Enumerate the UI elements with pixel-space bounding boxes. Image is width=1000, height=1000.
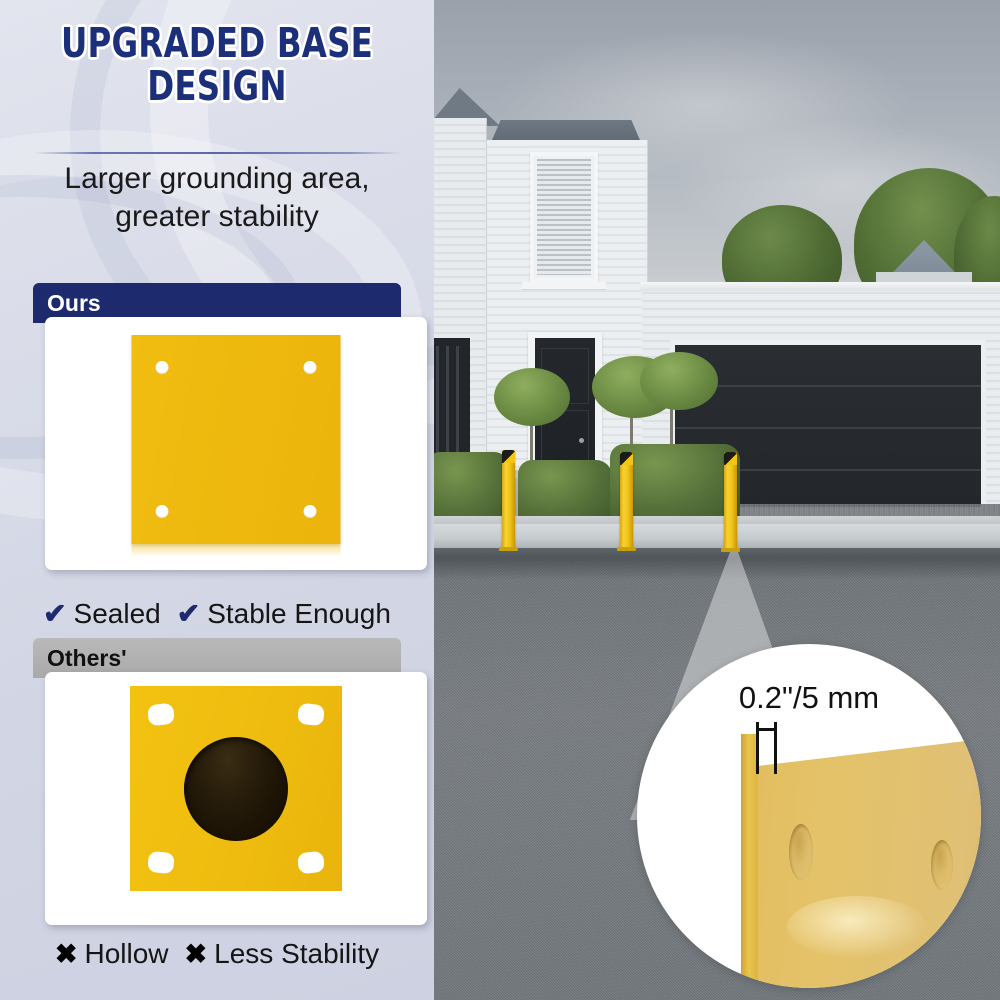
product-infographic: UPGRADED BASE DESIGN Larger grounding ar…	[0, 0, 1000, 1000]
bollard-base-plate	[617, 547, 636, 551]
bolt-hole-icon	[156, 505, 169, 518]
bolt-hole-icon	[931, 840, 953, 890]
base-plate-ours	[132, 335, 341, 544]
bolt-slot-icon	[147, 703, 175, 727]
bolt-hole-icon	[156, 361, 169, 374]
hedge	[434, 452, 510, 524]
headline-divider	[34, 152, 402, 154]
garage-door-seam	[675, 427, 981, 429]
bollard-base-plate	[499, 547, 518, 551]
card-photo-others	[45, 672, 427, 925]
bolt-hole-icon	[304, 361, 317, 374]
hollow-center-hole-icon	[184, 737, 288, 841]
headline-line-2: DESIGN	[26, 65, 408, 108]
check-icon: ✔	[43, 597, 66, 630]
plate-ours-wrapper	[45, 317, 427, 570]
bollard-product	[724, 452, 737, 549]
garage-door-seam	[675, 385, 981, 387]
bollard-cap-icon	[620, 452, 633, 465]
bullet-label-ours-1: Sealed	[74, 598, 161, 629]
door-knob-icon	[579, 438, 584, 443]
product-scene-photo: 0.2"/5 mm	[434, 0, 1000, 1000]
base-plate-others	[130, 686, 342, 891]
plate-others-wrapper	[45, 672, 427, 925]
dimension-label: 0.2"/5 mm	[655, 680, 963, 716]
bollard-base-plate	[721, 548, 740, 552]
cross-icon: ✖	[55, 939, 78, 970]
window-sill	[522, 282, 606, 290]
bullet-label-others-1: Hollow	[85, 938, 169, 969]
bollard-cap-icon	[502, 450, 515, 463]
bolt-slot-icon	[297, 703, 325, 727]
bullet-label-others-2: Less Stability	[214, 938, 379, 969]
bolt-slot-icon	[297, 851, 325, 875]
bollard-product	[620, 452, 633, 548]
bolt-hole-icon	[304, 505, 317, 518]
headline-block: UPGRADED BASE DESIGN	[0, 22, 434, 109]
subheadline-line-2: greater stability	[0, 198, 434, 236]
bolt-slot-icon	[147, 851, 175, 875]
card-header-others-label: Others'	[47, 645, 127, 672]
plate-gloss-highlight	[787, 896, 927, 958]
card-header-ours-label: Ours	[47, 290, 101, 317]
garage-parapet	[640, 282, 1000, 291]
caliper-span-tick	[756, 728, 777, 731]
sidewalk	[434, 524, 1000, 550]
cross-icon: ✖	[185, 939, 208, 970]
headline-line-1: UPGRADED BASE	[26, 22, 408, 65]
subheadline-block: Larger grounding area, greater stability	[0, 160, 434, 236]
bollard-product	[502, 450, 515, 548]
bullets-others: ✖Hollow✖Less Stability	[0, 938, 434, 970]
check-icon: ✔	[177, 597, 200, 630]
comparison-card-ours: Ours	[33, 283, 427, 583]
left-info-panel: UPGRADED BASE DESIGN Larger grounding ar…	[0, 0, 434, 1000]
comparison-card-others: Others'	[33, 638, 427, 928]
bullets-ours: ✔Sealed✔Stable Enough	[0, 597, 434, 630]
hedge	[518, 460, 612, 524]
subheadline-line-1: Larger grounding area,	[0, 160, 434, 198]
card-photo-ours	[45, 317, 427, 570]
louvre-slats	[537, 159, 591, 275]
bolt-hole-icon	[789, 824, 813, 880]
sapling-icon	[494, 368, 570, 426]
louvre-window	[530, 152, 598, 282]
sapling-icon	[640, 352, 718, 410]
bullet-label-ours-2: Stable Enough	[207, 598, 391, 629]
magnifier-callout: 0.2"/5 mm	[637, 644, 981, 988]
asphalt-shadow-band	[434, 558, 1000, 580]
bollard-cap-icon	[724, 452, 737, 465]
